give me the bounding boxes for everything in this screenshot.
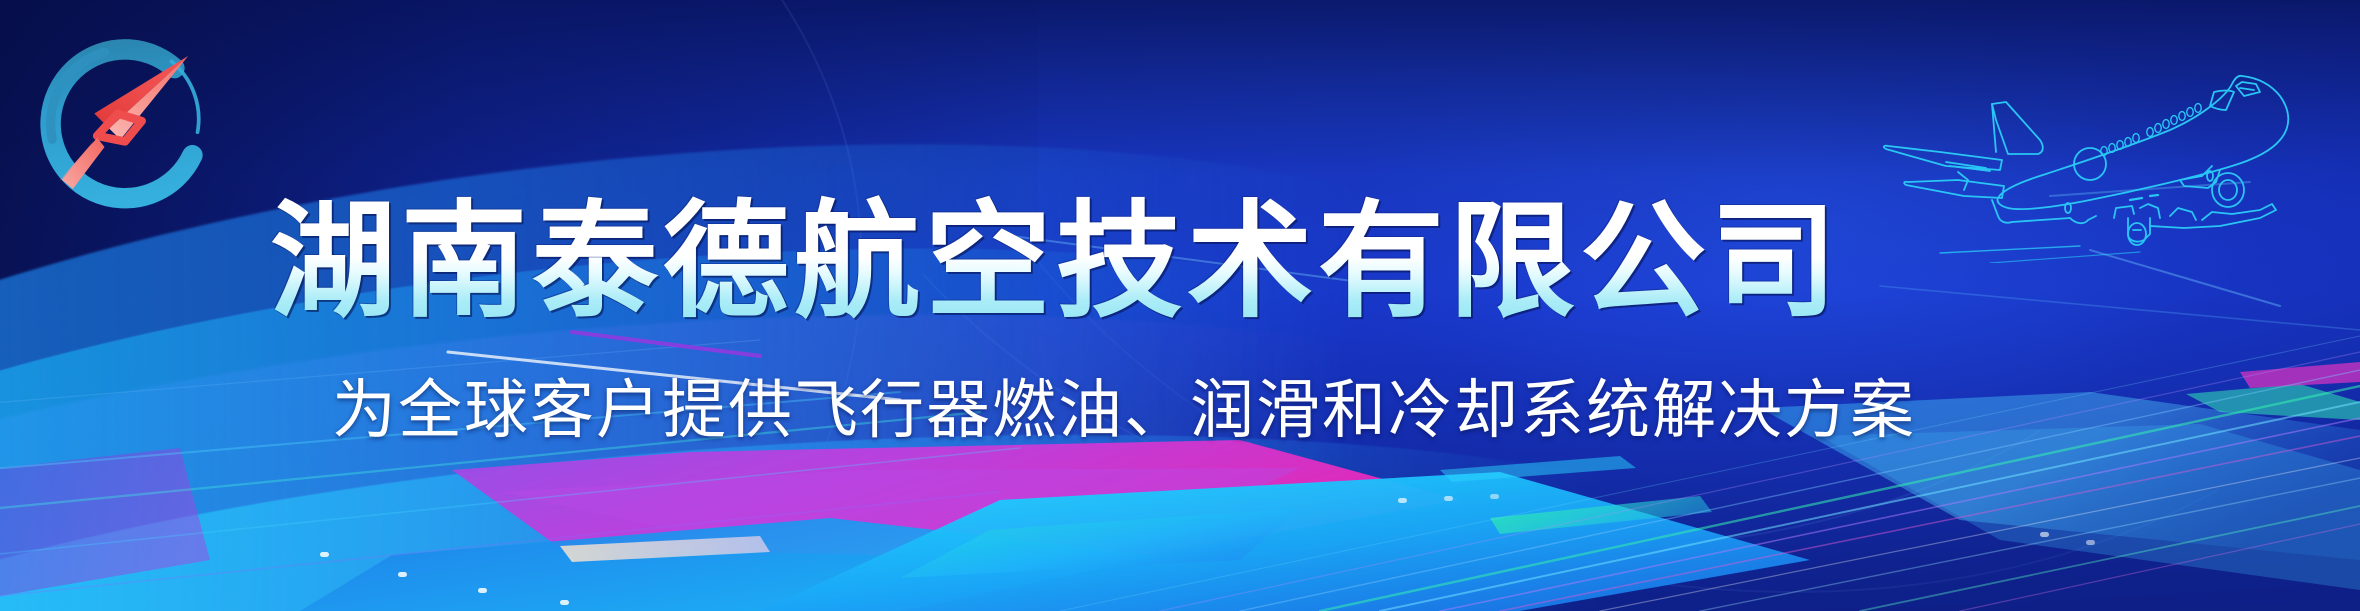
sparkle-dot	[478, 588, 487, 593]
sparkle-dot	[320, 552, 329, 557]
sparkle-dot	[398, 572, 407, 577]
slogan-block: 为全球客户提供飞行器燃油、润滑和冷却系统解决方案	[332, 372, 2092, 448]
page-slogan: 为全球客户提供飞行器燃油、润滑和冷却系统解决方案	[332, 372, 2092, 448]
sparkle-dot	[560, 600, 569, 605]
sparkle-dot	[1490, 494, 1499, 499]
sparkle-dot	[2086, 540, 2095, 545]
sparkle-dot	[2040, 532, 2049, 537]
company-banner: 湖南泰德航空技术有限公司 湖南泰德航空技术有限公司 为全球客户提供飞行器燃油、润…	[0, 0, 2360, 611]
title-block: 湖南泰德航空技术有限公司 湖南泰德航空技术有限公司	[270, 192, 2070, 332]
sparkle-dot	[1444, 496, 1453, 501]
sparkle-dot	[1398, 498, 1407, 503]
page-title: 湖南泰德航空技术有限公司	[270, 192, 2070, 332]
compass-needle-logo	[32, 28, 218, 214]
